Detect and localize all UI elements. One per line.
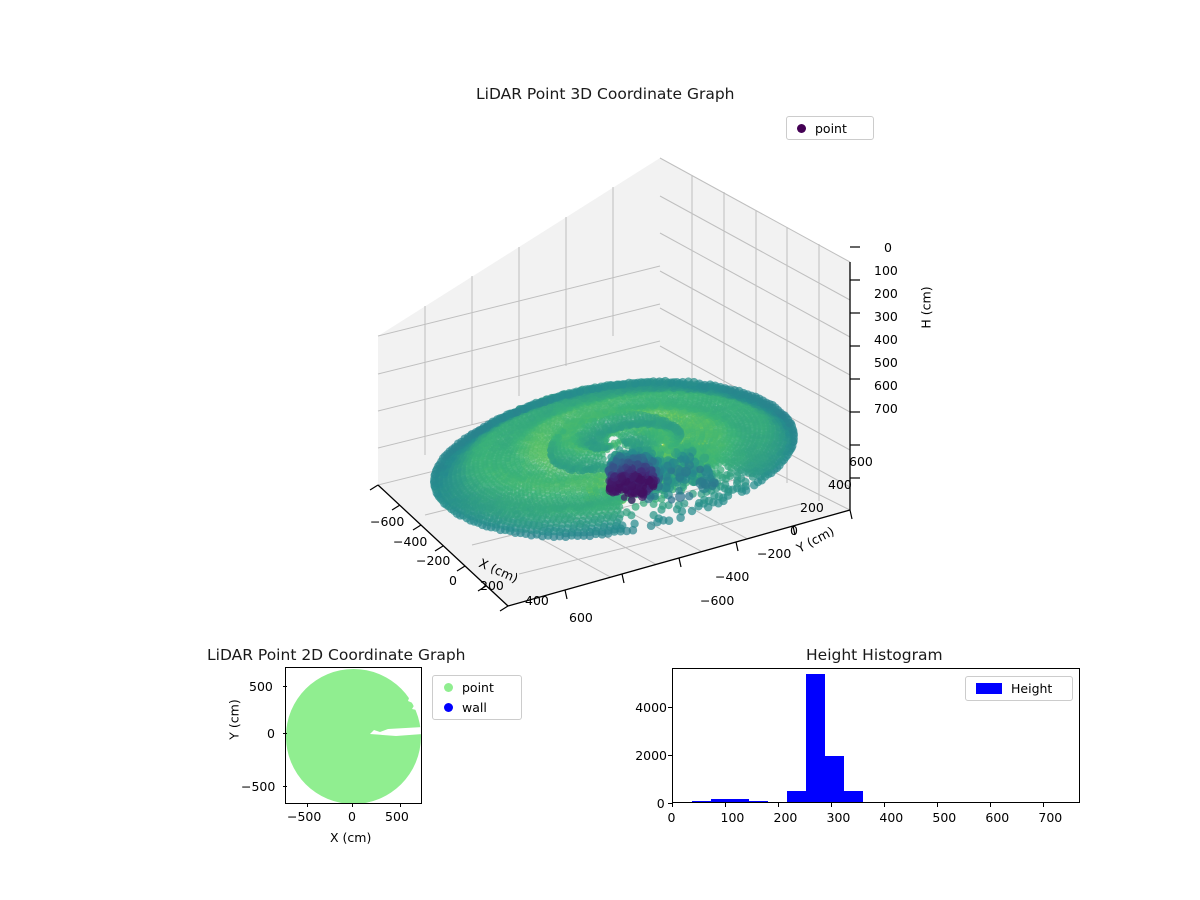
figure-canvas: LiDAR Point 3D Coordinate Graph point (0, 0, 1200, 900)
tick-3d-z-5: 500 (874, 355, 898, 370)
histogram-bar (711, 799, 730, 802)
legend-label-point: point (462, 680, 494, 695)
tick-3d-y-6: 600 (849, 454, 873, 469)
tick-hist-x-3: 300 (827, 810, 851, 825)
tickmark-hist-x (937, 803, 938, 807)
tickmark-hist-x (831, 803, 832, 807)
page-title-hist: Height Histogram (806, 646, 943, 664)
histogram-bar (692, 801, 711, 802)
legend-label-wall: wall (462, 700, 487, 715)
plot-2d-axes[interactable] (285, 667, 422, 804)
histogram-bar (806, 674, 825, 802)
legend-3d[interactable]: point (786, 116, 874, 140)
tick-2d-y-1: 0 (267, 726, 275, 741)
axis-label-2d-x: X (cm) (330, 830, 371, 845)
tickmark-hist-x (672, 803, 673, 807)
tick-hist-y-2: 4000 (635, 700, 667, 715)
tick-hist-x-5: 500 (932, 810, 956, 825)
wall-marker-icon (444, 703, 453, 712)
tick-hist-y-0: 0 (657, 796, 665, 811)
tick-2d-x-2: 500 (385, 809, 409, 824)
height-swatch-icon (976, 683, 1002, 694)
plot-3d-axes[interactable] (330, 140, 890, 630)
tickmark-hist-x (990, 803, 991, 807)
tick-3d-z-1: 100 (874, 263, 898, 278)
tick-3d-x-6: 600 (569, 610, 593, 625)
axis-label-3d-z: H (cm) (919, 286, 934, 328)
tick-2d-y-2: −500 (241, 779, 275, 794)
tick-3d-z-0: 0 (884, 240, 892, 255)
histogram-bar (787, 791, 806, 802)
tickmark-2d-y-0 (283, 686, 287, 687)
tickmark-hist-y (668, 707, 672, 708)
legend-hist[interactable]: Height (965, 676, 1073, 701)
axis-label-2d-y: Y (cm) (227, 699, 242, 739)
tickmark-2d-x-1 (352, 803, 353, 807)
histogram-bar (844, 791, 863, 802)
tickmark-2d-x-0 (307, 803, 308, 807)
tickmark-2d-y-2 (283, 786, 287, 787)
tick-3d-x-2: −200 (416, 553, 450, 568)
tick-3d-x-4: 200 (480, 578, 504, 593)
tick-3d-x-1: −400 (393, 534, 427, 549)
tick-3d-x-5: 400 (525, 593, 549, 608)
tick-2d-x-0: −500 (287, 809, 321, 824)
legend-entry-point: point (444, 680, 494, 695)
tick-3d-z-7: 700 (874, 401, 898, 416)
tick-hist-x-7: 700 (1038, 810, 1062, 825)
histogram-bar (749, 801, 768, 802)
tick-3d-y-4: 200 (800, 500, 824, 515)
tick-hist-y-1: 2000 (635, 748, 667, 763)
tick-2d-y-0: 500 (249, 679, 273, 694)
page-title-3d: LiDAR Point 3D Coordinate Graph (476, 85, 734, 103)
tick-hist-x-6: 600 (985, 810, 1009, 825)
tickmark-hist-x (884, 803, 885, 807)
tick-3d-y-3: 0 (790, 523, 798, 538)
page-title-2d: LiDAR Point 2D Coordinate Graph (207, 646, 465, 664)
tick-3d-y-5: 400 (828, 477, 852, 492)
tick-3d-y-1: −400 (715, 569, 749, 584)
legend-2d[interactable]: point wall (432, 675, 522, 720)
tickmark-2d-y-1 (283, 733, 287, 734)
legend-entry-wall: wall (444, 700, 494, 715)
tick-3d-x-3: 0 (449, 573, 457, 588)
tick-hist-x-1: 100 (721, 810, 745, 825)
tick-hist-x-2: 200 (774, 810, 798, 825)
histogram-bar (730, 799, 749, 802)
tick-hist-x-0: 0 (668, 810, 676, 825)
legend-label-height: Height (1011, 681, 1052, 696)
tick-3d-z-6: 600 (874, 378, 898, 393)
tickmark-hist-x (725, 803, 726, 807)
tick-3d-z-2: 200 (874, 286, 898, 301)
tick-hist-x-4: 400 (879, 810, 903, 825)
tickmark-hist-y (668, 755, 672, 756)
legend-label-point: point (815, 121, 847, 136)
tickmark-hist-x (778, 803, 779, 807)
tick-3d-y-0: −600 (700, 593, 734, 608)
tick-3d-z-3: 300 (874, 309, 898, 324)
legend-entry-height: Height (976, 681, 1052, 696)
tick-3d-y-2: −200 (757, 546, 791, 561)
tickmark-hist-x (1043, 803, 1044, 807)
histogram-bar (825, 756, 844, 802)
point-marker-icon (797, 124, 806, 133)
scatter-2d-points (285, 667, 422, 804)
tickmark-hist-y (668, 803, 672, 804)
legend-entry-point: point (797, 121, 847, 136)
tick-3d-x-0: −600 (370, 514, 404, 529)
tick-3d-z-4: 400 (874, 332, 898, 347)
tick-2d-x-1: 0 (348, 809, 356, 824)
point-marker-icon (444, 683, 453, 692)
tickmark-2d-x-2 (400, 803, 401, 807)
plot-3d-canvas (330, 140, 890, 630)
